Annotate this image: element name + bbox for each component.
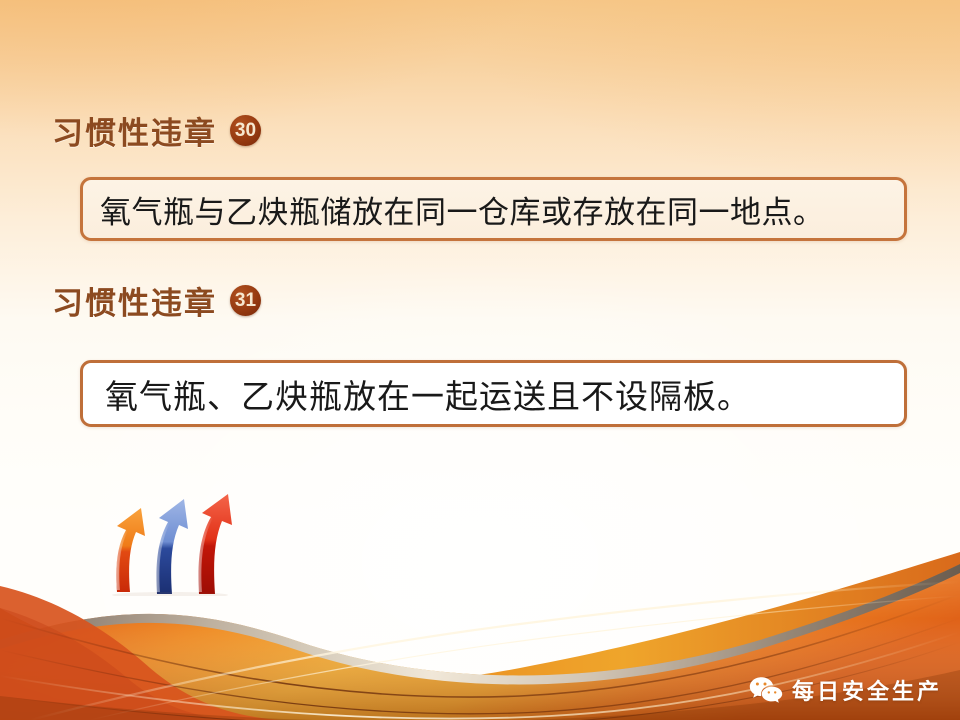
statement-text: 氧气瓶、乙炔瓶放在一起运送且不设隔板。 — [83, 370, 751, 418]
statement-text: 氧气瓶与乙炔瓶储放在同一仓库或存放在同一地点。 — [83, 187, 825, 232]
wechat-logo-icon — [749, 676, 783, 704]
section-heading-30: 习惯性违章 30 — [52, 108, 261, 153]
statement-box-31: 氧气瓶、乙炔瓶放在一起运送且不设隔板。 — [80, 360, 907, 427]
section-number-badge: 30 — [230, 115, 261, 146]
section-heading-label: 习惯性违章 — [52, 278, 217, 323]
watermark-label: 每日安全生产 — [792, 674, 942, 706]
section-number-badge: 31 — [230, 285, 261, 316]
statement-box-30: 氧气瓶与乙炔瓶储放在同一仓库或存放在同一地点。 — [80, 177, 907, 241]
section-heading-label: 习惯性违章 — [52, 108, 217, 153]
watermark: 每日安全生产 — [749, 674, 942, 706]
section-heading-31: 习惯性违章 31 — [52, 278, 261, 323]
slide-canvas: 习惯性违章 30 氧气瓶与乙炔瓶储放在同一仓库或存放在同一地点。 习惯性违章 3… — [0, 0, 960, 720]
